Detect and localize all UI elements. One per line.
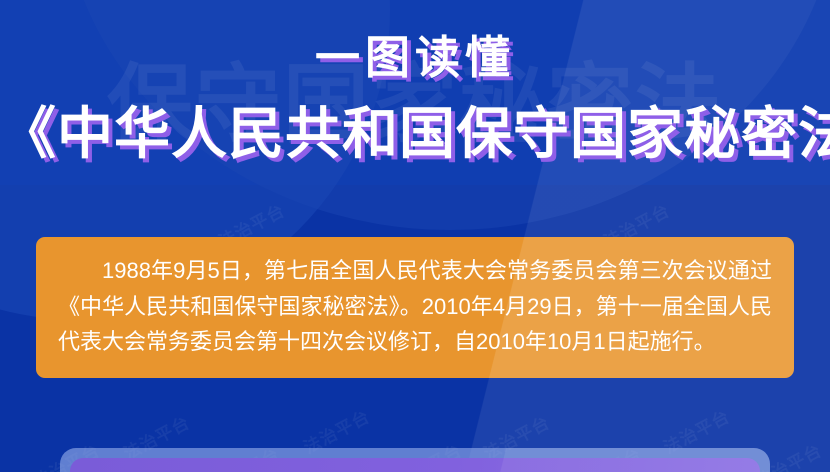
poster-subtitle: 一图读懂 bbox=[0, 34, 830, 82]
poster-main-title: 《中华人民共和国保守国家秘密法》 bbox=[0, 104, 830, 163]
bottom-panel-frame bbox=[60, 448, 770, 472]
poster-canvas: 保守国家秘密法 法治平台 法治平台 法治平台 法治平台 法治平台 法治平台 法治… bbox=[0, 0, 830, 472]
intro-callout-box: 1988年9月5日，第七届全国人民代表大会常务委员会第三次会议通过《中华人民共和… bbox=[36, 237, 794, 378]
bottom-panel-body bbox=[70, 458, 760, 472]
poster-title-block: 一图读懂 《中华人民共和国保守国家秘密法》 bbox=[0, 34, 830, 163]
intro-callout-text: 1988年9月5日，第七届全国人民代表大会常务委员会第三次会议通过《中华人民共和… bbox=[58, 253, 772, 360]
